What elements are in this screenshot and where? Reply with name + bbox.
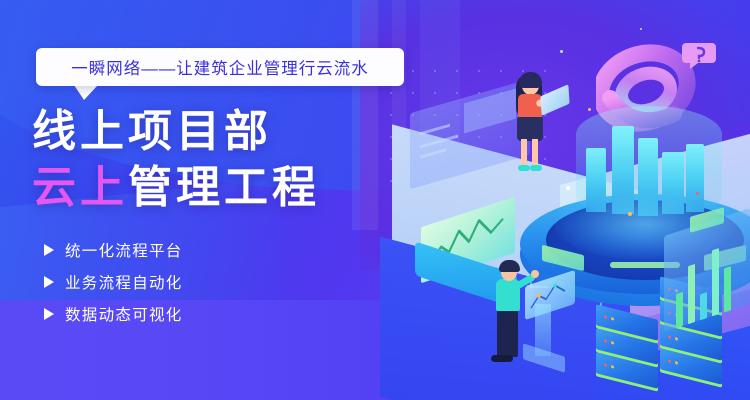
led-icon [668, 335, 671, 339]
tagline-text: 一瞬网络——让建筑企业管理行云流水 [36, 48, 404, 86]
decor-spark [560, 50, 563, 53]
headline-line-2: 云上管理工程 [32, 160, 432, 216]
headline-rest: 管理工程 [128, 163, 320, 212]
shoe [491, 355, 513, 362]
list-item-label: 业务流程自动化 [65, 271, 183, 293]
chart-bar [688, 264, 695, 324]
skirt [517, 117, 543, 141]
decor-spark [588, 108, 591, 111]
server-rack-stack [596, 300, 666, 400]
list-item-label: 统一化流程平台 [65, 239, 183, 261]
hair-front [519, 72, 542, 88]
led-icon [611, 317, 614, 321]
bar-chart-panel [664, 222, 750, 332]
tablet-device-icon [540, 84, 569, 116]
triangle-right-icon [44, 244, 54, 256]
tagline-bubble-tail [74, 85, 98, 100]
decor-spark [640, 28, 642, 30]
triangle-right-icon [44, 308, 54, 320]
chart-bar [712, 248, 719, 316]
promo-banner: 一瞬网络——让建筑企业管理行云流水 线上项目部 云上管理工程 统一化流程平台 业… [0, 0, 750, 400]
list-item: 数据动态可视化 [44, 300, 183, 328]
hand [531, 270, 539, 278]
chart-bar [700, 292, 707, 320]
led-icon [604, 339, 607, 343]
triangle-right-icon [44, 276, 54, 288]
feature-list: 统一化流程平台 业务流程自动化 数据动态可视化 [44, 236, 183, 332]
page-title: 线上项目部 云上管理工程 [32, 104, 432, 216]
led-icon [675, 361, 678, 365]
chart-bar [676, 292, 683, 328]
led-icon [668, 359, 671, 363]
led-icon [675, 337, 678, 341]
man-at-console-figure [487, 256, 573, 368]
headline-line-1: 线上项目部 [32, 104, 432, 160]
list-item-label: 数据动态可视化 [65, 303, 183, 325]
led-icon [611, 341, 614, 345]
tagline-bubble: 一瞬网络——让建筑企业管理行云流水 [36, 48, 404, 86]
led-icon [604, 315, 607, 319]
headline-accent: 云上 [32, 163, 128, 212]
list-item: 统一化流程平台 [44, 236, 183, 264]
speech-bubble-icon [682, 40, 716, 68]
decor-dot [696, 192, 699, 195]
led-icon [611, 365, 614, 369]
list-item: 业务流程自动化 [44, 268, 183, 296]
chart-bar [724, 266, 731, 312]
hair [499, 260, 520, 272]
platform-glass-cylinder [576, 106, 722, 216]
decor-dot [566, 186, 570, 190]
led-icon [604, 363, 607, 367]
decor-dot [628, 212, 632, 216]
legs [497, 309, 518, 357]
